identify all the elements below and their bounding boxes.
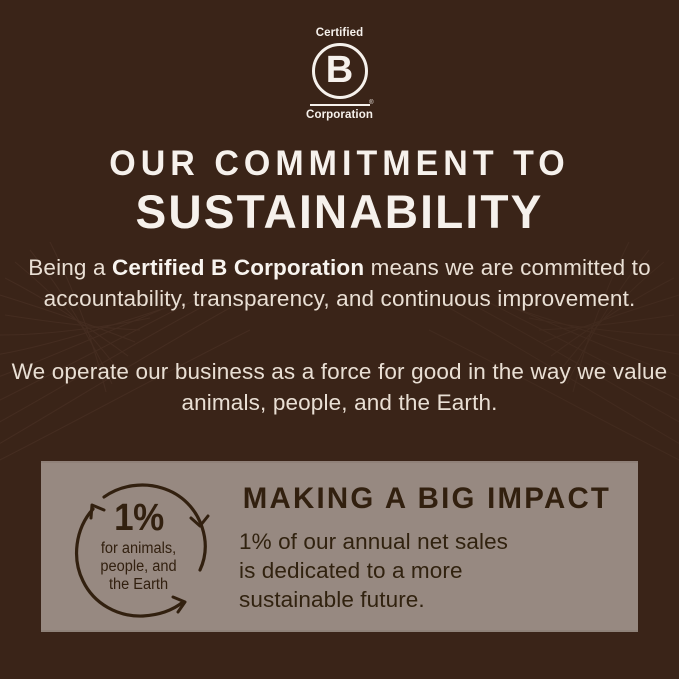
b-corp-letter: B [312,43,368,99]
intro-prefix: Being a [28,255,112,280]
headline-line-2: SUSTAINABILITY [7,188,672,235]
impact-body-line-1: 1% of our annual net sales [239,527,615,556]
page-title: OUR COMMITMENT TO SUSTAINABILITY [0,146,679,235]
impact-panel: 1% for animals, people, and the Earth MA… [41,461,638,632]
mission-paragraph: We operate our business as a force for g… [0,356,679,418]
badge-subtitle-line-3: the Earth [101,576,177,594]
impact-body: 1% of our annual net sales is dedicated … [239,527,615,614]
badge-subtitle-line-2: people, and [101,558,177,576]
b-corp-corporation-label: Corporation [306,110,373,122]
b-corp-rule-wrap: ® [308,104,372,107]
intro-emphasis: Certified B Corporation [112,255,364,280]
sustainability-poster: Certified B ® Corporation OUR COMMITMENT… [0,0,679,679]
registered-trademark-icon: ® [369,100,373,106]
intro-paragraph: Being a Certified B Corporation means we… [0,252,679,314]
b-corp-divider-rule [310,104,370,107]
badge-subtitle: for animals, people, and the Earth [101,540,177,594]
impact-body-line-3: sustainable future. [239,585,615,614]
impact-title: MAKING A BIG IMPACT [243,484,611,514]
badge-subtitle-line-1: for animals, [101,540,177,558]
b-corp-certified-label: Certified [316,28,364,40]
panel-top-edge [41,461,638,463]
impact-body-line-2: is dedicated to a more [239,556,615,585]
headline-line-1: OUR COMMITMENT TO [10,146,669,181]
badge-text-block: 1% for animals, people, and the Earth [63,471,215,623]
badge-percent: 1% [114,499,164,537]
panel-bottom-edge [41,630,638,632]
b-corp-circle-mark: B [312,43,368,99]
b-corp-logo: Certified B ® Corporation [0,28,679,122]
impact-copy: MAKING A BIG IMPACT 1% of our annual net… [239,480,615,614]
one-percent-badge: 1% for animals, people, and the Earth [63,471,215,623]
